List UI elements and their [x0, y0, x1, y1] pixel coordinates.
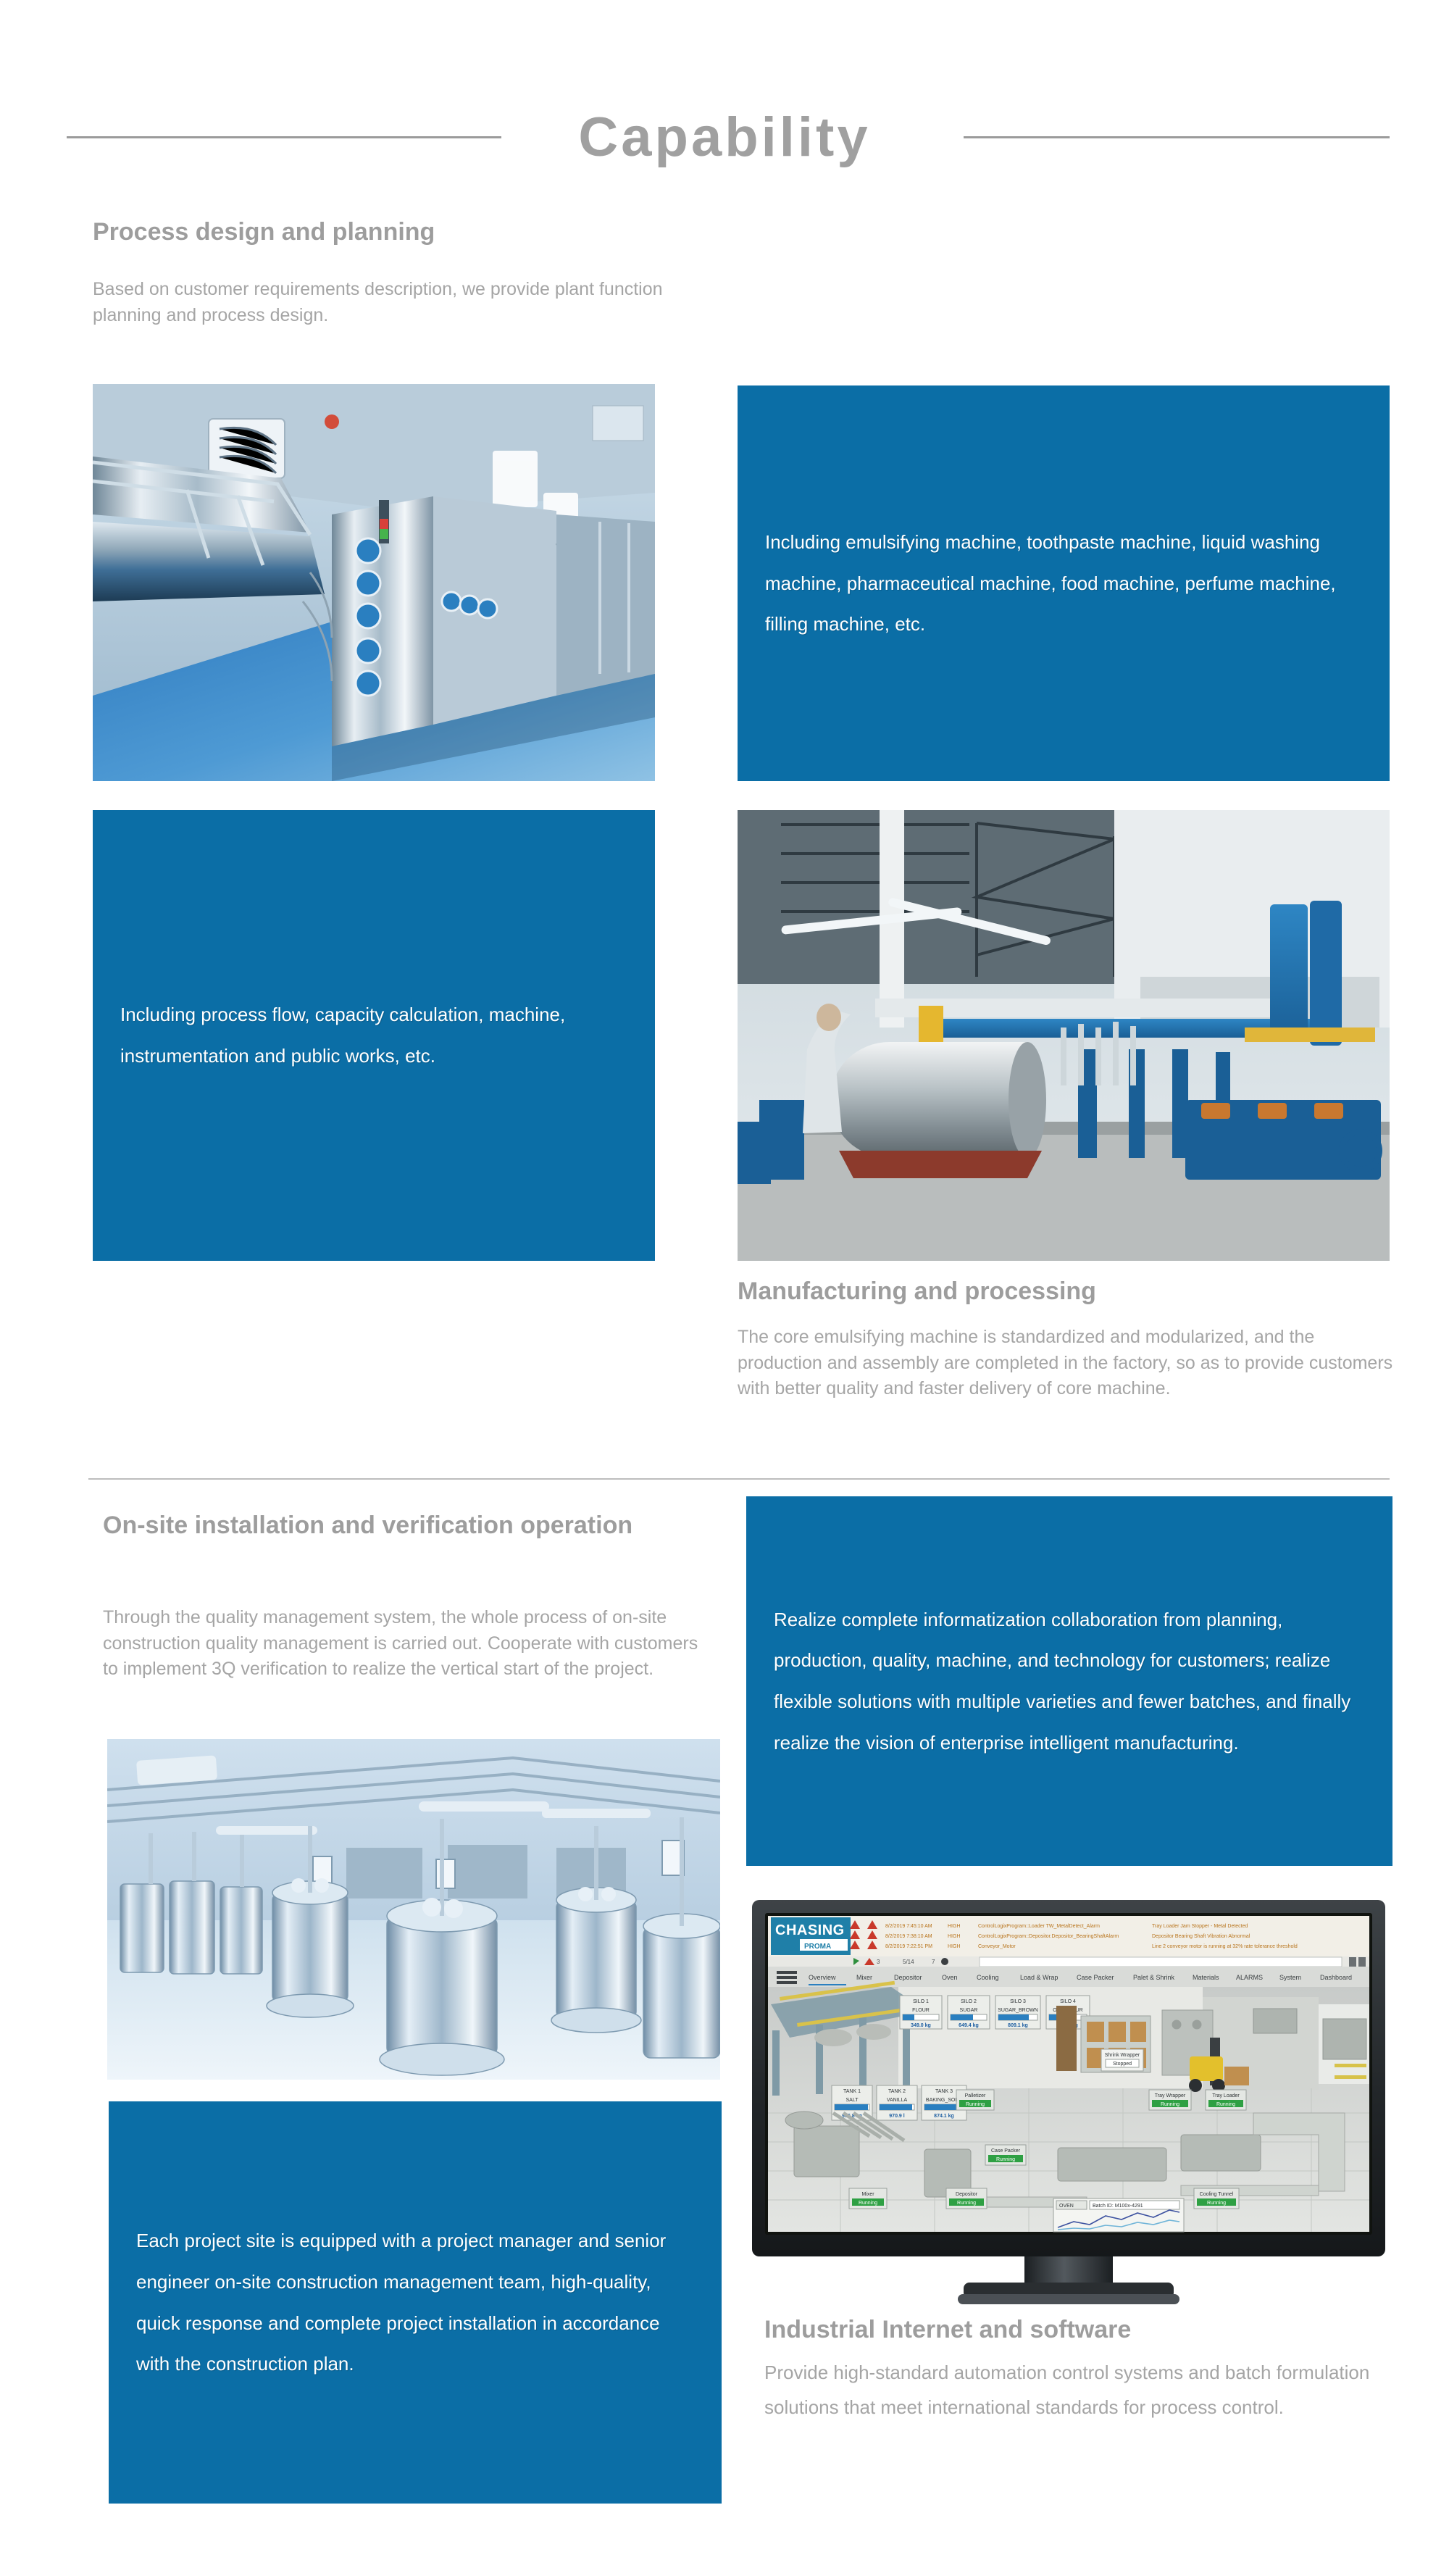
svg-text:Shrink Wrapper: Shrink Wrapper: [1105, 2053, 1140, 2058]
svg-text:Depositor Bearing Shaft Vibrat: Depositor Bearing Shaft Vibration Abnorm…: [1152, 1934, 1250, 1939]
svg-text:Case Packer: Case Packer: [991, 2148, 1021, 2154]
svg-text:HIGH: HIGH: [948, 1934, 961, 1939]
svg-text:System: System: [1279, 1974, 1301, 1981]
svg-text:Overview: Overview: [809, 1974, 836, 1981]
svg-text:Running: Running: [957, 2201, 976, 2206]
svg-text:649.4 kg: 649.4 kg: [959, 2023, 979, 2028]
svg-text:Dashboard: Dashboard: [1320, 1974, 1352, 1981]
svg-text:HIGH: HIGH: [948, 1944, 961, 1949]
svg-text:ControlLogixProgram::Loader TW: ControlLogixProgram::Loader TW_MetalDete…: [978, 1924, 1100, 1929]
svg-text:Palet & Shrink: Palet & Shrink: [1133, 1974, 1175, 1981]
svg-text:Case Packer: Case Packer: [1077, 1974, 1114, 1981]
section-body-on-site-installation: Through the quality management system, t…: [103, 1605, 711, 1683]
svg-text:Depositor: Depositor: [956, 2192, 978, 2197]
svg-text:Oven: Oven: [942, 1974, 958, 1981]
svg-text:8/2/2019 7:45:10 AM: 8/2/2019 7:45:10 AM: [885, 1924, 932, 1929]
svg-text:3: 3: [877, 1959, 880, 1965]
svg-text:809.1 kg: 809.1 kg: [1008, 2023, 1028, 2028]
svg-text:SILO 1: SILO 1: [913, 1999, 929, 2004]
svg-text:Palletizer: Palletizer: [965, 2093, 986, 2098]
cleanroom-production-line-photo: [93, 384, 655, 781]
svg-text:Mixer: Mixer: [856, 1974, 872, 1981]
svg-text:Depositor: Depositor: [894, 1974, 922, 1981]
svg-text:Running: Running: [996, 2157, 1015, 2162]
callout-manufacturing: Including process flow, capacity calcula…: [93, 810, 655, 1261]
svg-text:SILO 2: SILO 2: [961, 1999, 977, 2004]
svg-text:970.9 l: 970.9 l: [889, 2114, 904, 2119]
svg-text:Line 2 conveyor motor is runni: Line 2 conveyor motor is running at 32% …: [1152, 1944, 1298, 1949]
callout-on-site-installation: Realize complete informatization collabo…: [746, 1496, 1392, 1866]
svg-text:Tray Loader Jam Stopper - Meta: Tray Loader Jam Stopper - Metal Detected: [1152, 1924, 1248, 1929]
svg-text:Running: Running: [1161, 2102, 1179, 2107]
svg-text:Running: Running: [1207, 2201, 1226, 2206]
svg-text:TANK 2: TANK 2: [888, 2089, 906, 2094]
svg-text:8/2/2019 7:22:51 PM: 8/2/2019 7:22:51 PM: [885, 1944, 932, 1949]
svg-text:Tray Wrapper: Tray Wrapper: [1155, 2093, 1186, 2098]
callout-process-design: Including emulsifying machine, toothpast…: [738, 385, 1390, 781]
section-body-manufacturing: The core emulsifying machine is standard…: [738, 1325, 1397, 1402]
svg-text:8/2/2019 7:38:10 AM: 8/2/2019 7:38:10 AM: [885, 1934, 932, 1939]
svg-text:Load & Wrap: Load & Wrap: [1020, 1974, 1058, 1981]
page-title: Capability: [0, 94, 1449, 181]
page-header: Capability: [0, 94, 1449, 181]
svg-text:Materials: Materials: [1193, 1974, 1219, 1981]
svg-text:7: 7: [932, 1959, 935, 1965]
svg-text:Tray Loader: Tray Loader: [1212, 2093, 1240, 2098]
svg-text:Conveyor_Motor: Conveyor_Motor: [978, 1944, 1016, 1949]
svg-text:SUGAR: SUGAR: [960, 2008, 978, 2013]
svg-text:Stopped: Stopped: [1113, 2062, 1132, 2067]
svg-text:FLOUR: FLOUR: [912, 2008, 930, 2013]
section-body-process-design: Based on customer requirements descripti…: [93, 277, 665, 328]
section-divider: [88, 1478, 1390, 1480]
svg-text:Running: Running: [1216, 2102, 1235, 2107]
scada-monitor-photo: CHASING PROMA 8/2/2019 7:45:10 AM8/2/201…: [746, 1896, 1391, 2307]
svg-text:Cooling: Cooling: [977, 1974, 999, 1981]
section-heading-manufacturing: Manufacturing and processing: [738, 1277, 1397, 1306]
section-heading-industrial-internet: Industrial Internet and software: [764, 2315, 1402, 2345]
svg-text:SALT: SALT: [846, 2098, 859, 2103]
callout-industrial-internet: Each project site is equipped with a pro…: [109, 2101, 722, 2504]
section-heading-process-design: Process design and planning: [93, 217, 687, 247]
svg-text:349.0 kg: 349.0 kg: [911, 2023, 931, 2028]
svg-text:VANILLA: VANILLA: [887, 2098, 908, 2103]
welding-workshop-photo: [738, 810, 1390, 1261]
svg-text:SUGAR_BROWN: SUGAR_BROWN: [998, 2008, 1038, 2013]
svg-text:Mixer: Mixer: [861, 2192, 874, 2197]
svg-text:SILO 3: SILO 3: [1010, 1999, 1026, 2004]
svg-text:HIGH: HIGH: [948, 1924, 961, 1929]
svg-text:SILO 4: SILO 4: [1060, 1999, 1076, 2004]
svg-text:TANK 3: TANK 3: [935, 2089, 953, 2094]
svg-text:OVEN: OVEN: [1059, 2204, 1074, 2209]
svg-text:ALARMS: ALARMS: [1236, 1974, 1263, 1981]
svg-text:PROMA: PROMA: [804, 1943, 831, 1951]
stainless-tank-hall-photo: [107, 1739, 720, 2080]
section-heading-on-site-installation: On-site installation and verification op…: [103, 1511, 740, 1541]
svg-text:CHASING: CHASING: [775, 1922, 845, 1938]
svg-text:Running: Running: [859, 2201, 877, 2206]
svg-text:5/14: 5/14: [903, 1959, 914, 1965]
svg-text:Batch ID: M100x-4291: Batch ID: M100x-4291: [1093, 2204, 1143, 2209]
svg-text:Running: Running: [966, 2102, 985, 2107]
svg-text:ControlLogixProgram::Depositor: ControlLogixProgram::Depositor.Depositor…: [978, 1934, 1119, 1939]
svg-text:TANK 1: TANK 1: [843, 2089, 861, 2094]
svg-text:874.1 kg: 874.1 kg: [934, 2114, 954, 2119]
svg-text:Cooling Tunnel: Cooling Tunnel: [1200, 2192, 1234, 2197]
section-body-industrial-internet: Provide high-standard automation control…: [764, 2355, 1402, 2425]
